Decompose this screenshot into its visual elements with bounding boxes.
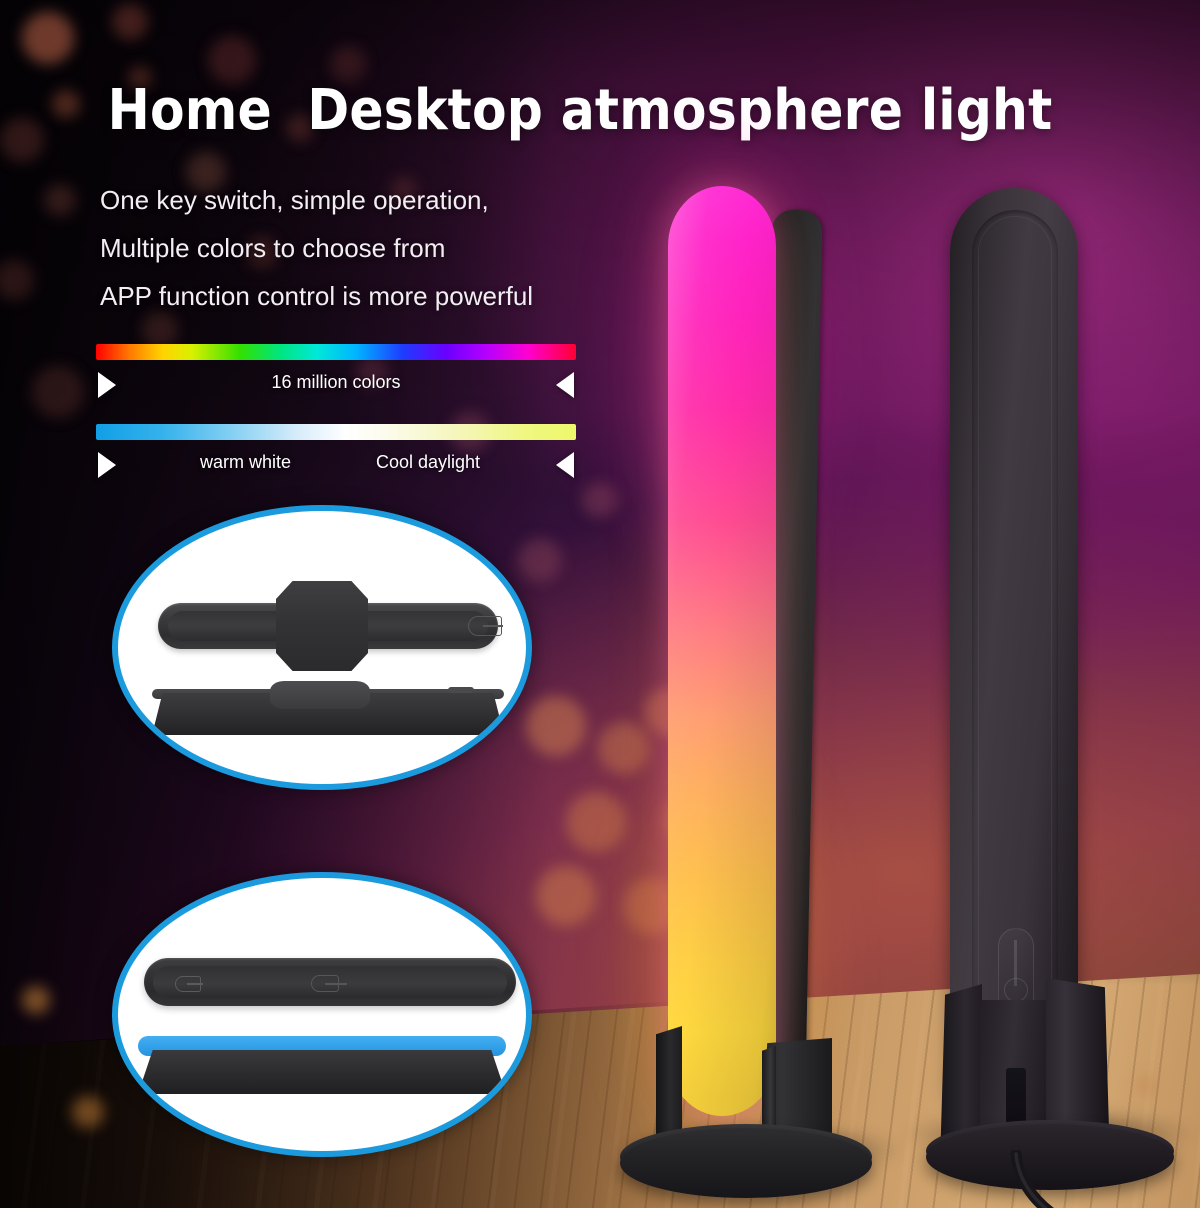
warm-white-label: warm white bbox=[200, 452, 291, 473]
side-view-body bbox=[138, 1050, 506, 1094]
rgb-gradient-bar[interactable] bbox=[96, 344, 576, 360]
power-button-icon bbox=[311, 975, 339, 992]
cable-channel-dot bbox=[1004, 978, 1028, 1002]
white-gradient-bar[interactable] bbox=[96, 424, 576, 440]
lit-lamp-base bbox=[620, 1128, 872, 1198]
inset-base-top-view bbox=[112, 505, 532, 790]
bottom-panel-inner bbox=[153, 966, 507, 998]
rgb-light-tube-sheen bbox=[668, 186, 776, 1116]
white-slider-labels: warm white Cool daylight bbox=[96, 448, 576, 482]
feature-list: One key switch, simple operation, Multip… bbox=[100, 176, 533, 320]
inset-base-bottom-side-view bbox=[112, 872, 532, 1157]
feature-item-1: One key switch, simple operation, bbox=[100, 176, 533, 224]
octagonal-hub bbox=[276, 581, 368, 671]
rgb-slider-label: 16 million colors bbox=[96, 372, 576, 393]
usb-port-icon bbox=[175, 976, 201, 992]
play-triangle-left-icon[interactable] bbox=[556, 452, 574, 478]
cool-daylight-label: Cool daylight bbox=[376, 452, 480, 473]
page-title: Home Desktop atmosphere light bbox=[0, 78, 1160, 143]
rgb-slider-labels: 16 million colors bbox=[96, 368, 576, 402]
rgb-color-slider[interactable]: 16 million colors bbox=[96, 344, 576, 402]
feature-item-3: APP function control is more powerful bbox=[100, 272, 533, 320]
usb-port-icon bbox=[468, 616, 502, 636]
play-triangle-left-icon[interactable] bbox=[556, 372, 574, 398]
feature-item-2: Multiple colors to choose from bbox=[100, 224, 533, 272]
play-triangle-right-icon[interactable] bbox=[98, 452, 116, 478]
lamp-unlit bbox=[926, 188, 1176, 1188]
unlit-lamp-base bbox=[926, 1124, 1174, 1190]
white-temperature-slider[interactable]: warm white Cool daylight bbox=[96, 424, 576, 482]
lamp-lit bbox=[612, 178, 882, 1188]
bottom-panel bbox=[144, 958, 516, 1006]
color-slider-group: 16 million colors warm white Cool daylig… bbox=[96, 344, 576, 504]
base-plate-nub bbox=[448, 687, 474, 693]
product-banner: Home Desktop atmosphere light One key sw… bbox=[0, 0, 1200, 1208]
base-plate-knob bbox=[270, 681, 370, 709]
